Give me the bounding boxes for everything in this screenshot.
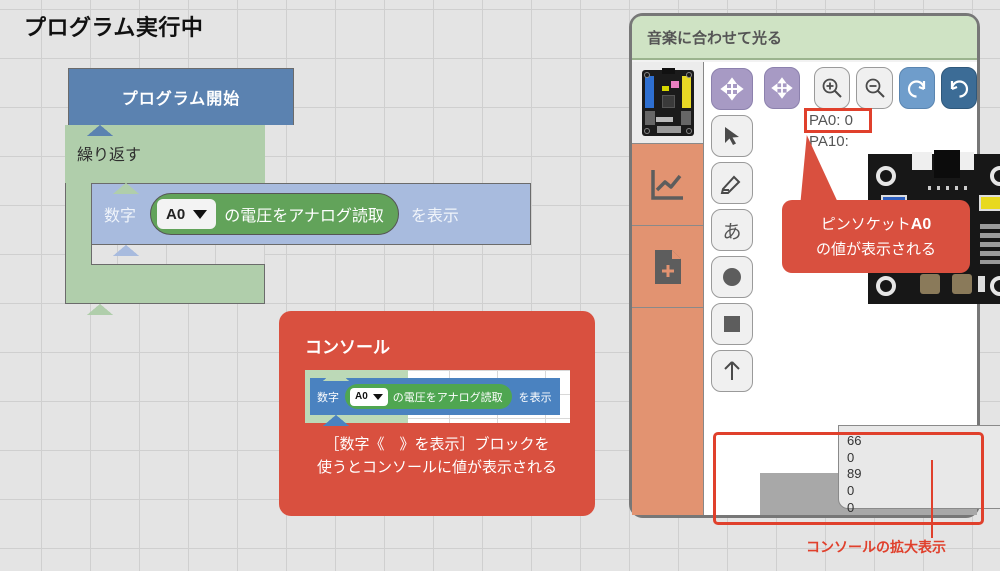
page-title: プログラム実行中 xyxy=(24,10,203,42)
text-a-icon: あ xyxy=(722,217,741,244)
pin-callout-line1: ピンソケットA0 xyxy=(782,212,970,238)
filled-circle-icon xyxy=(721,266,743,288)
circle-tool-button[interactable] xyxy=(711,256,753,298)
block-notch-loop-bottom xyxy=(87,304,113,315)
console-callout-pin-value: A0 xyxy=(355,391,368,402)
sidebar-item-new-file[interactable] xyxy=(632,226,703,308)
block-program-start[interactable]: プログラム開始 xyxy=(68,68,294,125)
console-callout-description: ［数字《 》を表示］ブロックを 使うとコンソールに値が表示される xyxy=(279,433,595,480)
arrow-up-icon xyxy=(722,360,742,382)
console-callout-notch-bottom xyxy=(323,415,349,426)
cursor-arrow-icon xyxy=(721,125,743,147)
block-print-number[interactable]: 数字 A0 の電圧をアナログ読取 を表示 xyxy=(91,183,531,245)
board-icon xyxy=(642,70,694,136)
pin-dropdown[interactable]: A0 xyxy=(157,199,216,229)
pin-callout-line1-strong: A0 xyxy=(911,216,931,233)
arrow-up-tool-button[interactable] xyxy=(711,350,753,392)
move-tool-button[interactable] xyxy=(711,68,753,110)
simulator-tabstrip xyxy=(632,62,704,515)
block-notch-print-bottom xyxy=(113,245,139,256)
block-analog-label: の電圧をアナログ読取 xyxy=(224,202,384,226)
console-callout-description-line2: 使うとコンソールに値が表示される xyxy=(279,456,595,479)
block-print-suffix: を表示 xyxy=(411,202,459,226)
chart-icon xyxy=(649,168,687,202)
console-callout-notch-top xyxy=(323,370,349,381)
zoom-out-button[interactable] xyxy=(856,67,892,109)
chevron-down-icon xyxy=(193,210,207,219)
pan-button[interactable] xyxy=(764,67,800,109)
console-callout-title: コンソール xyxy=(305,333,595,358)
block-print-prefix: 数字 xyxy=(104,202,136,226)
magnifier-minus-icon xyxy=(864,77,886,99)
pencil-icon xyxy=(720,172,744,194)
console-callout-analog-label: の電圧をアナログ読取 xyxy=(393,389,503,405)
rotate-cw-button[interactable] xyxy=(941,67,977,109)
sidebar-item-graph[interactable] xyxy=(632,144,703,226)
document-plus-icon xyxy=(653,248,683,286)
console-callout-pin-dropdown: A0 xyxy=(350,388,388,406)
rotate-cw-icon xyxy=(947,76,971,100)
sidebar-item-empty[interactable] xyxy=(632,308,703,528)
zoom-in-button[interactable] xyxy=(814,67,850,109)
block-analog-read[interactable]: A0 の電圧をアナログ読取 xyxy=(150,193,399,235)
pin-dropdown-value: A0 xyxy=(166,206,185,223)
console-callout-block-image: 数字 A0 の電圧をアナログ読取 を表示 xyxy=(305,370,570,423)
block-program-canvas: プログラム開始 繰り返す 数字 A0 の電圧をアナログ読取 を表示 xyxy=(65,68,545,318)
pin-readout-pa10: PA10: xyxy=(809,133,849,150)
pin-readout-pa0: PA0: 0 xyxy=(809,112,853,129)
sidebar-item-board[interactable] xyxy=(632,62,703,144)
block-loop-label: 繰り返す xyxy=(77,141,141,165)
rotate-ccw-icon xyxy=(905,76,929,100)
pen-tool-button[interactable] xyxy=(711,162,753,204)
move-arrows-icon xyxy=(771,77,793,99)
move-arrows-icon xyxy=(720,77,744,101)
block-notch-start xyxy=(87,125,113,136)
simulator-title: 音楽に合わせて光る xyxy=(632,16,977,60)
rotate-ccw-button[interactable] xyxy=(899,67,935,109)
square-tool-button[interactable] xyxy=(711,303,753,345)
console-callout-print-prefix: 数字 xyxy=(317,389,339,405)
chevron-down-icon xyxy=(373,394,383,400)
canvas-toolbar xyxy=(760,62,977,114)
console-callout-print-suffix: を表示 xyxy=(519,389,552,405)
console-note-label: コンソールの拡大表示 xyxy=(806,537,946,557)
pin-callout: ピンソケットA0 の値が表示される xyxy=(782,200,970,273)
console-callout-description-line1: ［数字《 》を表示］ブロックを xyxy=(279,433,595,456)
text-tool-button[interactable]: あ xyxy=(711,209,753,251)
block-notch-loop-inner xyxy=(113,183,139,194)
select-tool-button[interactable] xyxy=(711,115,753,157)
filled-square-icon xyxy=(722,314,742,334)
console-callout-print-block: 数字 A0 の電圧をアナログ読取 を表示 xyxy=(310,378,560,415)
pin-callout-line1-prefix: ピンソケット xyxy=(821,216,911,233)
console-callout-analog-block: A0 の電圧をアナログ読取 xyxy=(345,384,512,409)
console-callout: コンソール 数字 A0 の電圧をアナログ読取 を表示 ［数字《 》を表示］ブロッ… xyxy=(279,311,595,516)
console-output-highlight xyxy=(713,432,984,525)
pin-callout-line2: の値が表示される xyxy=(782,238,970,262)
block-start-label: プログラム開始 xyxy=(122,85,241,109)
magnifier-plus-icon xyxy=(821,77,843,99)
